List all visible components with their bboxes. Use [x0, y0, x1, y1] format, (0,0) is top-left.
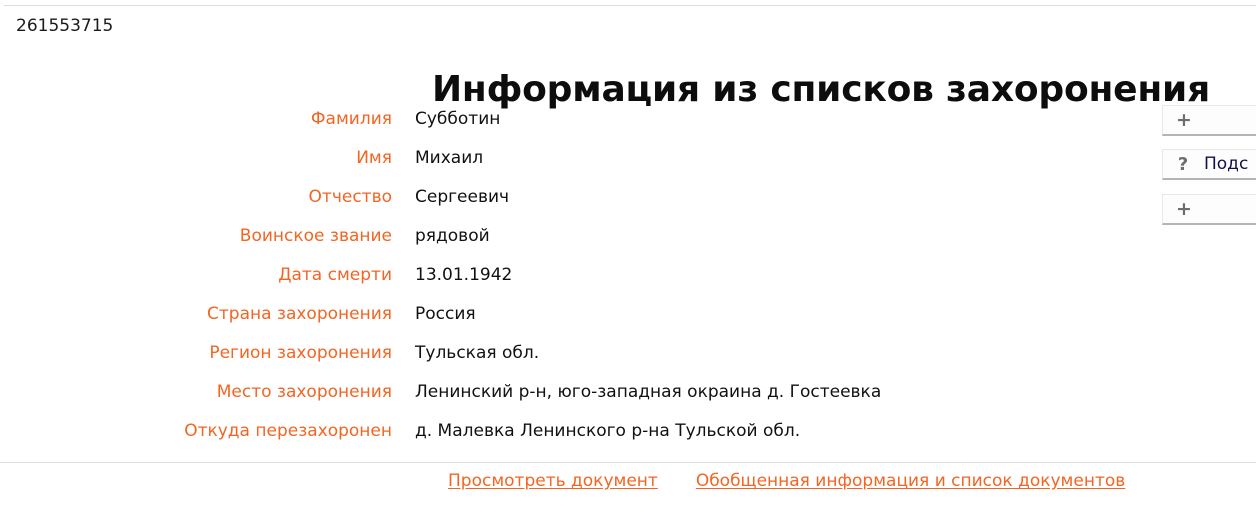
document-links: Просмотреть документ Обобщенная информац… — [448, 470, 1125, 492]
burial-details-table: Фамилия Субботин Имя Михаил Отчество Сер… — [0, 108, 1000, 459]
table-row: Воинское звание рядовой — [0, 225, 1000, 264]
field-value-burial-region: Тульская обл. — [392, 342, 1000, 381]
table-row: Фамилия Субботин — [0, 108, 1000, 147]
field-label-patronymic: Отчество — [0, 186, 392, 225]
field-label-reburied-from: Откуда перезахоронен — [0, 420, 392, 459]
question-mark-icon: ? — [1176, 155, 1190, 174]
footer-divider — [0, 462, 1256, 463]
field-value-burial-country: Россия — [392, 303, 1000, 342]
table-row: Дата смерти 13.01.1942 — [0, 264, 1000, 303]
field-label-military-rank: Воинское звание — [0, 225, 392, 264]
table-row: Откуда перезахоронен д. Малевка Ленинско… — [0, 420, 1000, 459]
summary-and-documents-link[interactable]: Обобщенная информация и список документо… — [696, 470, 1125, 492]
details-body: Фамилия Субботин Имя Михаил Отчество Сер… — [0, 108, 1000, 459]
record-id: 261553715 — [16, 16, 113, 36]
top-divider — [4, 5, 1256, 6]
table-row: Страна захоронения Россия — [0, 303, 1000, 342]
zoom-in-widget[interactable]: + — [1162, 105, 1256, 136]
field-value-military-rank: рядовой — [392, 225, 1000, 264]
field-label-burial-place: Место захоронения — [0, 381, 392, 420]
plus-icon: + — [1176, 111, 1190, 130]
plus-icon: + — [1176, 200, 1190, 219]
field-value-surname: Субботин — [392, 108, 1000, 147]
field-label-surname: Фамилия — [0, 108, 392, 147]
hint-widget-label: Подс — [1204, 153, 1248, 175]
field-value-reburied-from: д. Малевка Ленинского р-на Тульской обл. — [392, 420, 1000, 459]
field-value-firstname: Михаил — [392, 147, 1000, 186]
page-title: Информация из списков захоронения — [0, 68, 1210, 112]
field-label-firstname: Имя — [0, 147, 392, 186]
table-row: Отчество Сергеевич — [0, 186, 1000, 225]
table-row: Имя Михаил — [0, 147, 1000, 186]
field-label-date-of-death: Дата смерти — [0, 264, 392, 303]
field-label-burial-country: Страна захоронения — [0, 303, 392, 342]
field-label-burial-region: Регион захоронения — [0, 342, 392, 381]
table-row: Регион захоронения Тульская обл. — [0, 342, 1000, 381]
field-value-date-of-death: 13.01.1942 — [392, 264, 1000, 303]
field-value-patronymic: Сергеевич — [392, 186, 1000, 225]
hint-widget[interactable]: ? Подс — [1162, 149, 1256, 180]
add-widget[interactable]: + — [1162, 194, 1256, 225]
field-value-burial-place: Ленинский р-н, юго-западная окраина д. Г… — [392, 381, 1000, 420]
table-row: Место захоронения Ленинский р-н, юго-зап… — [0, 381, 1000, 420]
view-document-link[interactable]: Просмотреть документ — [448, 470, 658, 492]
